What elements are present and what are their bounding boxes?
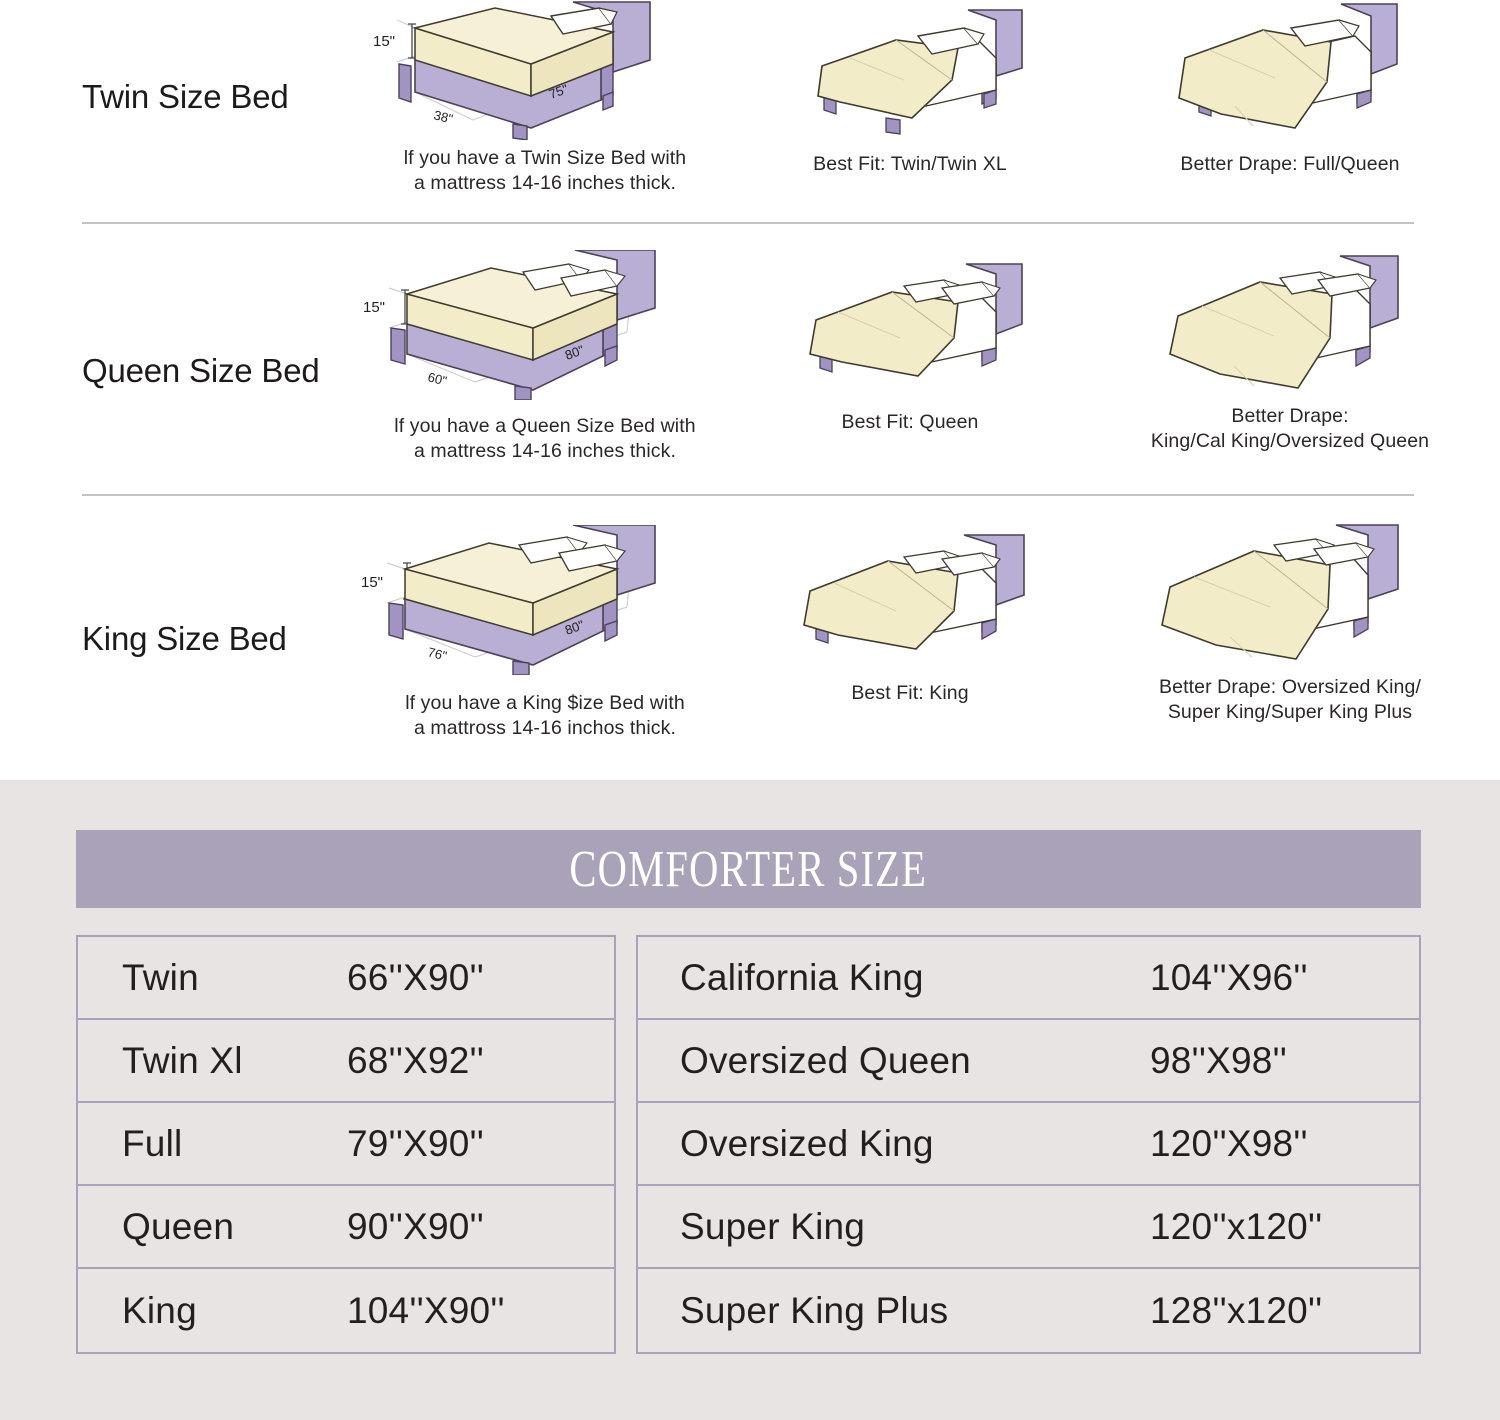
- comforter-size-title-bar: COMFORTER SIZE: [76, 830, 1421, 908]
- size-name: Oversized Queen: [638, 1040, 1150, 1082]
- size-value: 66''X90'': [347, 957, 484, 999]
- queen-width-label: 60": [426, 369, 449, 388]
- divider-row-2: [82, 494, 1414, 496]
- twin-best-fit-caption: Best Fit: Twin/Twin XL: [760, 152, 1060, 177]
- size-value: 120''x120'': [1150, 1206, 1322, 1248]
- comforter-size-panel: COMFORTER SIZE Twin 66''X90'' Twin Xl 68…: [0, 780, 1500, 1420]
- size-name: Queen: [78, 1206, 347, 1248]
- queen-better-drape-illustration: [1162, 254, 1417, 394]
- queen-caption-line-1: lf you have a Queen Size Bed with: [355, 414, 735, 439]
- king-diagram-caption: lf you have a King $ize Bed with a mattr…: [355, 691, 735, 741]
- twin-height-label: 15": [373, 33, 395, 50]
- table-row: Oversized Queen 98''X98'': [638, 1020, 1419, 1103]
- bed-row-queen: Queen Size Bed: [0, 232, 1500, 497]
- king-better-drape-caption: Better Drape: Oversized King/ Super King…: [1110, 675, 1470, 725]
- size-value: 98''X98'': [1150, 1040, 1287, 1082]
- table-row: King 104''X90'': [78, 1269, 614, 1352]
- size-value: 90''X90'': [347, 1206, 484, 1248]
- bed-row-twin: Twin Size Bed: [0, 0, 1500, 225]
- size-value: 104''X96'': [1150, 957, 1308, 999]
- twin-best-fit-illustration: [800, 6, 1040, 136]
- size-value: 68''X92'': [347, 1040, 484, 1082]
- king-drape-line-1: Better Drape: Oversized King/: [1110, 675, 1470, 700]
- queen-bed-dimension-illustration: 15" 60" 80": [355, 250, 695, 400]
- twin-better-drape-illustration: [1165, 2, 1415, 137]
- table-row: Oversized King 120''X98'': [638, 1103, 1419, 1186]
- king-height-label: 15": [361, 574, 383, 591]
- infographic-page: Twin Size Bed: [0, 0, 1500, 1420]
- row-title-queen: Queen Size Bed: [82, 352, 320, 390]
- twin-drape-line-1: Better Drape: Full/Queen: [1110, 152, 1470, 177]
- size-name: California King: [638, 957, 1150, 999]
- twin-caption-line-2: a mattress 14-16 inches thick.: [355, 171, 735, 196]
- comforter-size-table-right: California King 104''X96'' Oversized Que…: [636, 935, 1421, 1354]
- table-row: Twin Xl 68''X92'': [78, 1020, 614, 1103]
- king-best-fit-caption: Best Fit: King: [760, 681, 1060, 706]
- row-title-twin: Twin Size Bed: [82, 78, 289, 116]
- size-value: 128''x120'': [1150, 1290, 1322, 1332]
- king-width-label: 76": [426, 644, 449, 663]
- queen-best-fit-caption: Best Fit: Queen: [760, 410, 1060, 435]
- table-row: Super King Plus 128''x120'': [638, 1269, 1419, 1352]
- table-row: Queen 90''X90'': [78, 1186, 614, 1269]
- twin-diagram-caption: lf you have a Twin Size Bed with a mattr…: [355, 146, 735, 196]
- size-name: Oversized King: [638, 1123, 1150, 1165]
- twin-better-drape-caption: Better Drape: Full/Queen: [1110, 152, 1470, 177]
- size-value: 120''X98'': [1150, 1123, 1308, 1165]
- table-row: Twin 66''X90'': [78, 937, 614, 1020]
- size-name: Full: [78, 1123, 347, 1165]
- divider-row-1: [82, 222, 1414, 224]
- queen-height-label: 15": [363, 299, 385, 316]
- bed-size-guide: Twin Size Bed: [0, 0, 1500, 780]
- comforter-size-table-left: Twin 66''X90'' Twin Xl 68''X92'' Full 79…: [76, 935, 616, 1354]
- queen-drape-line-1: Better Drape:: [1110, 404, 1470, 429]
- size-name: Super King Plus: [638, 1290, 1150, 1332]
- king-drape-line-2: Super King/Super King Plus: [1110, 700, 1470, 725]
- twin-caption-line-1: lf you have a Twin Size Bed with: [355, 146, 735, 171]
- size-value: 104''X90'': [347, 1290, 505, 1332]
- table-row: Full 79''X90'': [78, 1103, 614, 1186]
- twin-bed-dimension-illustration: 15" 38" 75": [355, 0, 685, 140]
- king-best-fit-illustration: [796, 533, 1041, 663]
- king-better-drape-illustration: [1156, 523, 1418, 665]
- king-bed-dimension-illustration: 15" 76" 80": [355, 525, 695, 675]
- king-caption-line-2: a mattross 14-16 inchos thick.: [355, 716, 735, 741]
- table-row: Super King 120''x120'': [638, 1186, 1419, 1269]
- page-title: COMFORTER SIZE: [570, 840, 928, 899]
- size-value: 79''X90'': [347, 1123, 484, 1165]
- queen-diagram-caption: lf you have a Queen Size Bed with a matt…: [355, 414, 735, 464]
- twin-width-label: 38": [432, 107, 455, 126]
- bed-row-king: King Size Bed: [0, 505, 1500, 770]
- king-caption-line-1: lf you have a King $ize Bed with: [355, 691, 735, 716]
- queen-better-drape-caption: Better Drape: King/Cal King/Oversized Qu…: [1110, 404, 1470, 454]
- size-name: King: [78, 1290, 347, 1332]
- row-title-king: King Size Bed: [82, 620, 287, 658]
- size-name: Twin: [78, 957, 347, 999]
- size-name: Super King: [638, 1206, 1150, 1248]
- queen-caption-line-2: a mattress 14-16 inches thick.: [355, 439, 735, 464]
- queen-drape-line-2: King/Cal King/Oversized Queen: [1110, 429, 1470, 454]
- queen-best-fit-illustration: [798, 262, 1038, 392]
- table-row: California King 104''X96'': [638, 937, 1419, 1020]
- size-name: Twin Xl: [78, 1040, 347, 1082]
